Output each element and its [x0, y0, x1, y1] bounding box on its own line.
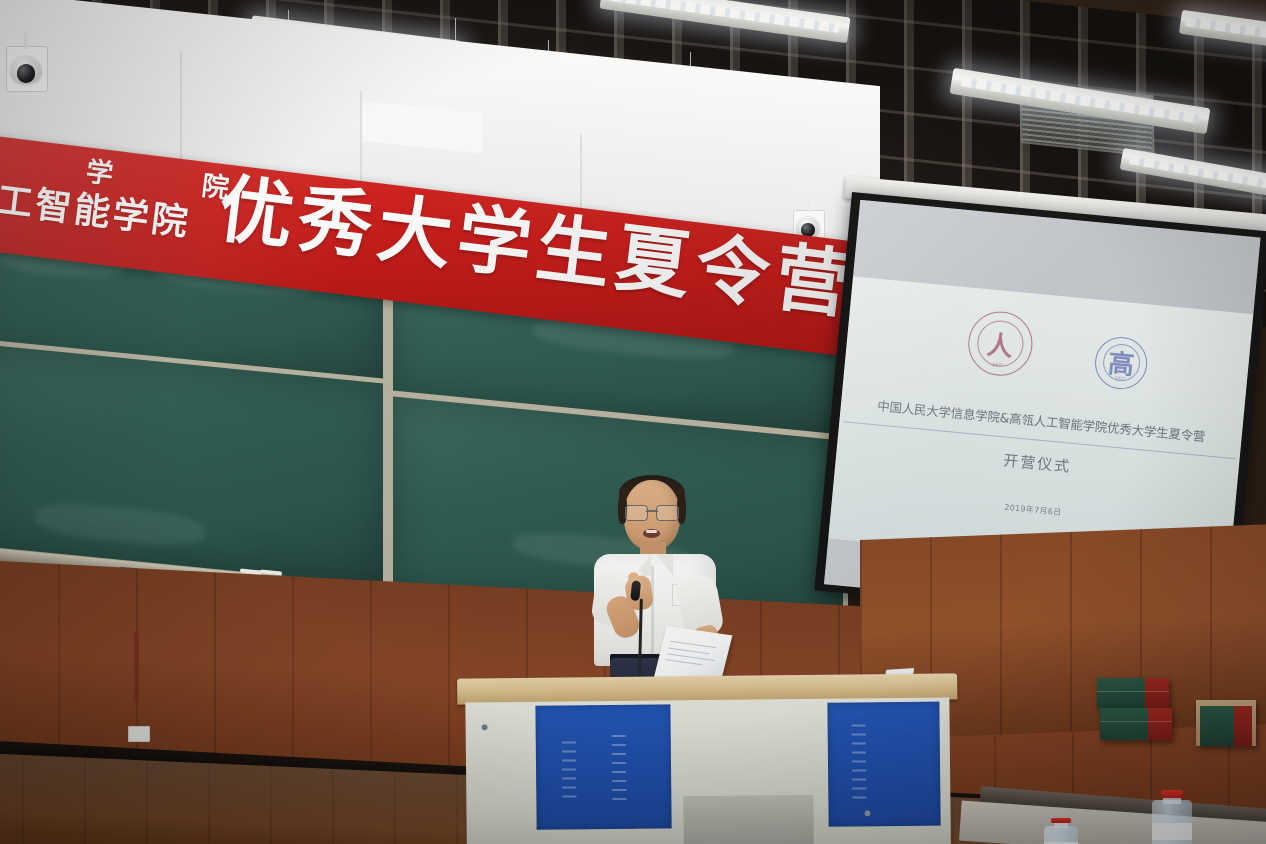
bottle-label — [1152, 823, 1192, 840]
mouth — [643, 529, 660, 538]
lectern-panel-left[interactable] — [535, 704, 671, 829]
louver-vent — [562, 741, 577, 803]
carton-tan-open — [1196, 700, 1256, 746]
camera-conduit — [807, 199, 810, 212]
lens-right — [656, 505, 679, 521]
banner-line-2-small: 人工智能学院 — [0, 166, 194, 246]
chalkboard-panel-lower-left — [0, 338, 388, 591]
lectern-panel-right[interactable] — [827, 702, 940, 827]
louver-vent — [852, 724, 867, 802]
lecture-hall-photo: 息 学 院 人工智能学院 优秀大学生夏令营 人 1937 — [0, 0, 1266, 844]
carton-green-red-lower — [1100, 708, 1172, 740]
collar-right — [656, 554, 673, 576]
lens-left — [625, 505, 648, 521]
carton-flap-line — [1097, 691, 1169, 692]
carton-green-face — [1097, 678, 1145, 708]
carton-red-face — [1148, 708, 1172, 740]
bottle-cap — [1161, 790, 1183, 798]
paper-text-line — [670, 641, 716, 648]
lectern-lock-right[interactable] — [864, 810, 870, 816]
bottle-neck — [1054, 822, 1069, 828]
paper-text-line — [665, 660, 702, 666]
presenter — [588, 480, 728, 690]
paper-text-line — [668, 647, 709, 654]
carton-green-face — [1200, 706, 1234, 746]
eyeglasses — [625, 505, 679, 519]
carton-inner — [1200, 706, 1252, 746]
lectern-recess — [683, 795, 814, 844]
glasses-bridge — [646, 510, 658, 512]
wall-outlet — [128, 726, 150, 742]
louver-vent — [612, 735, 627, 803]
carton-red-face — [1145, 678, 1169, 708]
water-bottle-foreground-right[interactable] — [1152, 790, 1192, 844]
carton-green-face — [1100, 708, 1148, 740]
speaker-lectern — [457, 673, 959, 844]
camera-conduit — [24, 31, 27, 49]
shirt-placket — [651, 566, 654, 662]
water-bottle-foreground-left[interactable] — [1044, 818, 1078, 844]
gaoling-ai-school-seal: 高 1937 — [1093, 334, 1150, 391]
lectern-lock-left[interactable] — [482, 724, 488, 730]
wall-cable — [134, 632, 139, 702]
wall-patch — [362, 101, 482, 154]
renmin-university-seal: 人 1937 — [965, 309, 1035, 379]
camera-lens — [17, 64, 35, 82]
carton-flap-line — [1100, 721, 1172, 722]
dome-camera-left-wall — [6, 46, 46, 90]
carton-red-face — [1234, 706, 1252, 746]
carton-green-red-upper — [1097, 678, 1169, 708]
chalk-smudge — [35, 499, 205, 550]
bottle-cap — [1051, 818, 1070, 823]
